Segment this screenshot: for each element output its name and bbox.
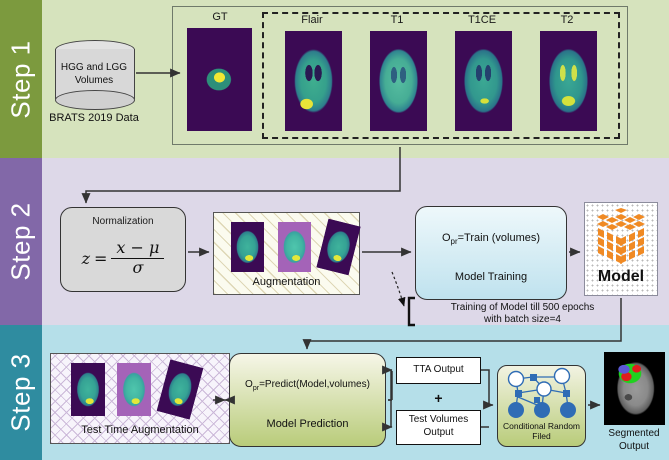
segmented-output-line1: Segmented	[596, 428, 669, 439]
gt-label: GT	[182, 11, 258, 23]
crf-graph-icon	[500, 367, 583, 424]
training-note-line2: with batch size=4	[415, 314, 630, 325]
modality-image-t1	[370, 31, 427, 131]
modality-label-t1: T1	[357, 14, 437, 26]
database-text-line2: Volumes	[50, 75, 138, 86]
plus-symbol: +	[396, 390, 481, 406]
training-formula-prefix: O	[442, 232, 451, 244]
crf-label-line1: Conditional Random	[494, 421, 589, 431]
prediction-formula-prefix: O	[245, 379, 253, 390]
augmentation-label: Augmentation	[213, 276, 360, 288]
formula-denominator: σ	[132, 259, 143, 277]
model-prediction-label: Model Prediction	[229, 418, 386, 430]
step2-label: Step 2	[6, 202, 37, 280]
figure-canvas: Step 1 Step 2 Step 3 HGG and LGG Volumes…	[0, 0, 669, 460]
modality-image-flair	[285, 31, 342, 131]
prediction-formula-line: Opr=Predict(Model,volumes)	[229, 379, 386, 392]
model-prediction-box	[229, 353, 386, 447]
segmented-output-line2: Output	[596, 441, 669, 452]
model-training-label: Model Training	[415, 271, 567, 283]
test-volumes-output-line2: Output	[396, 427, 481, 438]
prediction-formula-suffix: =Predict(Model,volumes)	[259, 379, 370, 390]
model-cube-icon	[592, 208, 650, 264]
training-formula-suffix: =Train (volumes)	[458, 232, 540, 244]
segmented-output-image	[604, 352, 665, 425]
normalization-formula: z = x − μ σ	[60, 234, 186, 282]
step3-tab: Step 3	[0, 325, 42, 460]
formula-fraction: x − μ σ	[111, 240, 164, 277]
step2-tab: Step 2	[0, 158, 42, 325]
formula-equals: =	[94, 249, 107, 268]
training-formula-line: Opr=Train (volumes)	[415, 232, 567, 246]
modality-image-t1ce	[455, 31, 512, 131]
modality-image-t2	[540, 31, 597, 131]
step3-label: Step 3	[6, 353, 37, 431]
modality-label-flair: Flair	[272, 14, 352, 26]
crf-label-line2: Filed	[494, 431, 589, 441]
gt-image	[187, 28, 252, 131]
database-text-line1: HGG and LGG	[50, 62, 138, 73]
database-cylinder-bottom	[55, 90, 135, 110]
tta-image-1	[71, 363, 105, 416]
database-caption: BRATS 2019 Data	[38, 112, 150, 124]
formula-numerator: x − μ	[111, 240, 164, 259]
test-time-augmentation-label: Test Time Augmentation	[50, 424, 230, 436]
tta-image-2	[117, 363, 151, 416]
step1-label: Step 1	[6, 40, 37, 118]
formula-lhs: z	[82, 249, 90, 268]
training-note-line1: Training of Model till 500 epochs	[415, 302, 630, 313]
modality-label-t2: T2	[527, 14, 607, 26]
model-label: Model	[584, 268, 658, 286]
test-volumes-output-line1: Test Volumes	[396, 414, 481, 425]
step1-tab: Step 1	[0, 0, 42, 158]
tta-output-label: TTA Output	[396, 364, 481, 375]
augmentation-image-2	[278, 222, 311, 272]
model-training-box	[415, 206, 567, 300]
augmentation-image-1	[231, 222, 264, 272]
training-formula-subscript: pr	[451, 237, 458, 246]
normalization-title: Normalization	[60, 216, 186, 227]
modality-label-t1ce: T1CE	[442, 14, 522, 26]
